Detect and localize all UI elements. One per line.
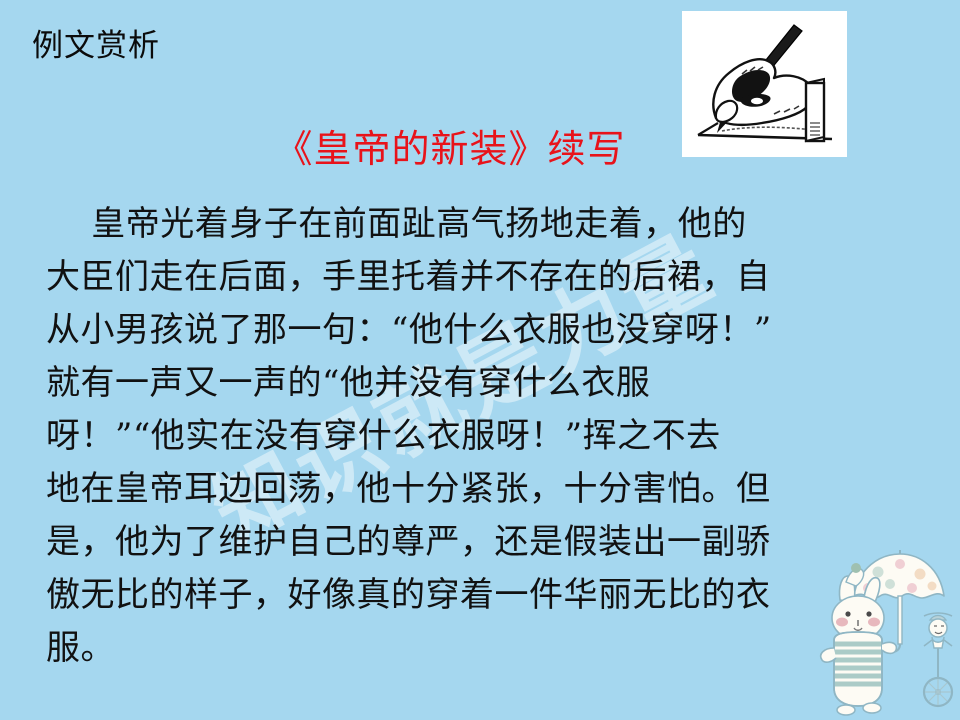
unicycle-rider-icon (924, 613, 952, 706)
body-line: 服。 (46, 622, 906, 675)
section-heading: 例文赏析 (32, 26, 160, 66)
body-line: 傲无比的样子，好像真的穿着一件华丽无比的衣 (46, 569, 906, 622)
body-line: 是，他为了维护自己的尊严，还是假装出一副骄 (46, 516, 906, 569)
page-title: 《皇帝的新装》续写 (0, 126, 960, 172)
body-line: 呀！”“他实在没有穿什么衣服呀！”挥之不去 (46, 410, 906, 463)
body-line: 大臣们走在后面，手里托着并不存在的后裙，自 (46, 251, 906, 304)
body-line: 从小男孩说了那一句：“他什么衣服也没穿呀！” (46, 304, 906, 357)
presentation-slide: 知识就是力量 例文赏析 《皇帝的新装》续写 (0, 0, 960, 720)
body-line: 皇帝光着身子在前面趾高气扬地走着，他的 (46, 198, 906, 251)
body-line: 就有一声又一声的“他并没有穿什么衣服 (46, 357, 906, 410)
body-line: 地在皇帝耳边回荡，他十分紧张，十分害怕。但 (46, 463, 906, 516)
body-paragraph: 皇帝光着身子在前面趾高气扬地走着，他的 大臣们走在后面，手里托着并不存在的后裙，… (46, 198, 906, 675)
